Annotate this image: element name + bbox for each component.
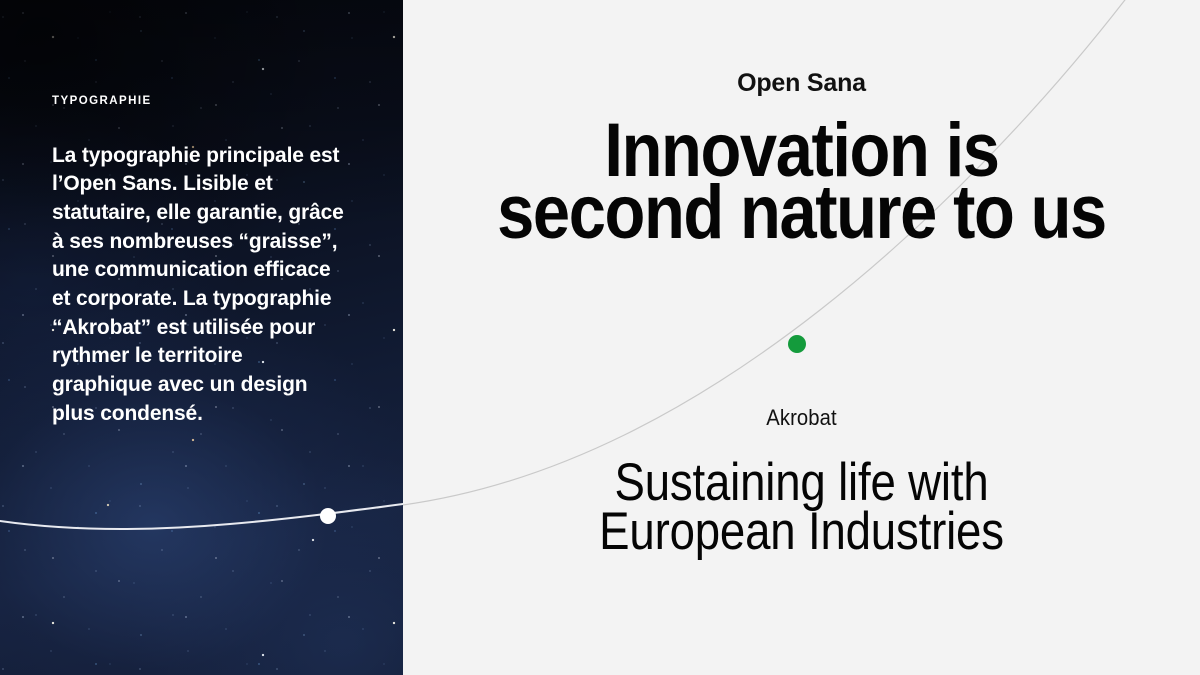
specimen-label-open-sana: Open Sana [403,70,1200,98]
specimen-label-akrobat: Akrobat [435,406,1168,430]
typography-slide: TYPOGRAPHIE La typographie principale es… [0,0,1200,675]
typography-text-block: TYPOGRAPHIE La typographie principale es… [52,96,352,429]
specimen-akrobat: Akrobat Sustaining life with European In… [403,406,1200,556]
specimen-headline-open-sana: Innovation is second nature to us [451,120,1152,244]
typography-description-text: La typographie principale est l’Open San… [52,142,344,429]
specimen-open-sana: Open Sana Innovation is second nature to… [403,70,1200,244]
type-specimen-panel: Open Sana Innovation is second nature to… [403,0,1200,675]
headline-line-2: European Industries [599,502,1004,561]
headline-line-2: second nature to us [497,170,1106,255]
specimen-headline-akrobat: Sustaining life with European Industries [459,458,1144,556]
section-kicker-label: TYPOGRAPHIE [52,96,352,108]
